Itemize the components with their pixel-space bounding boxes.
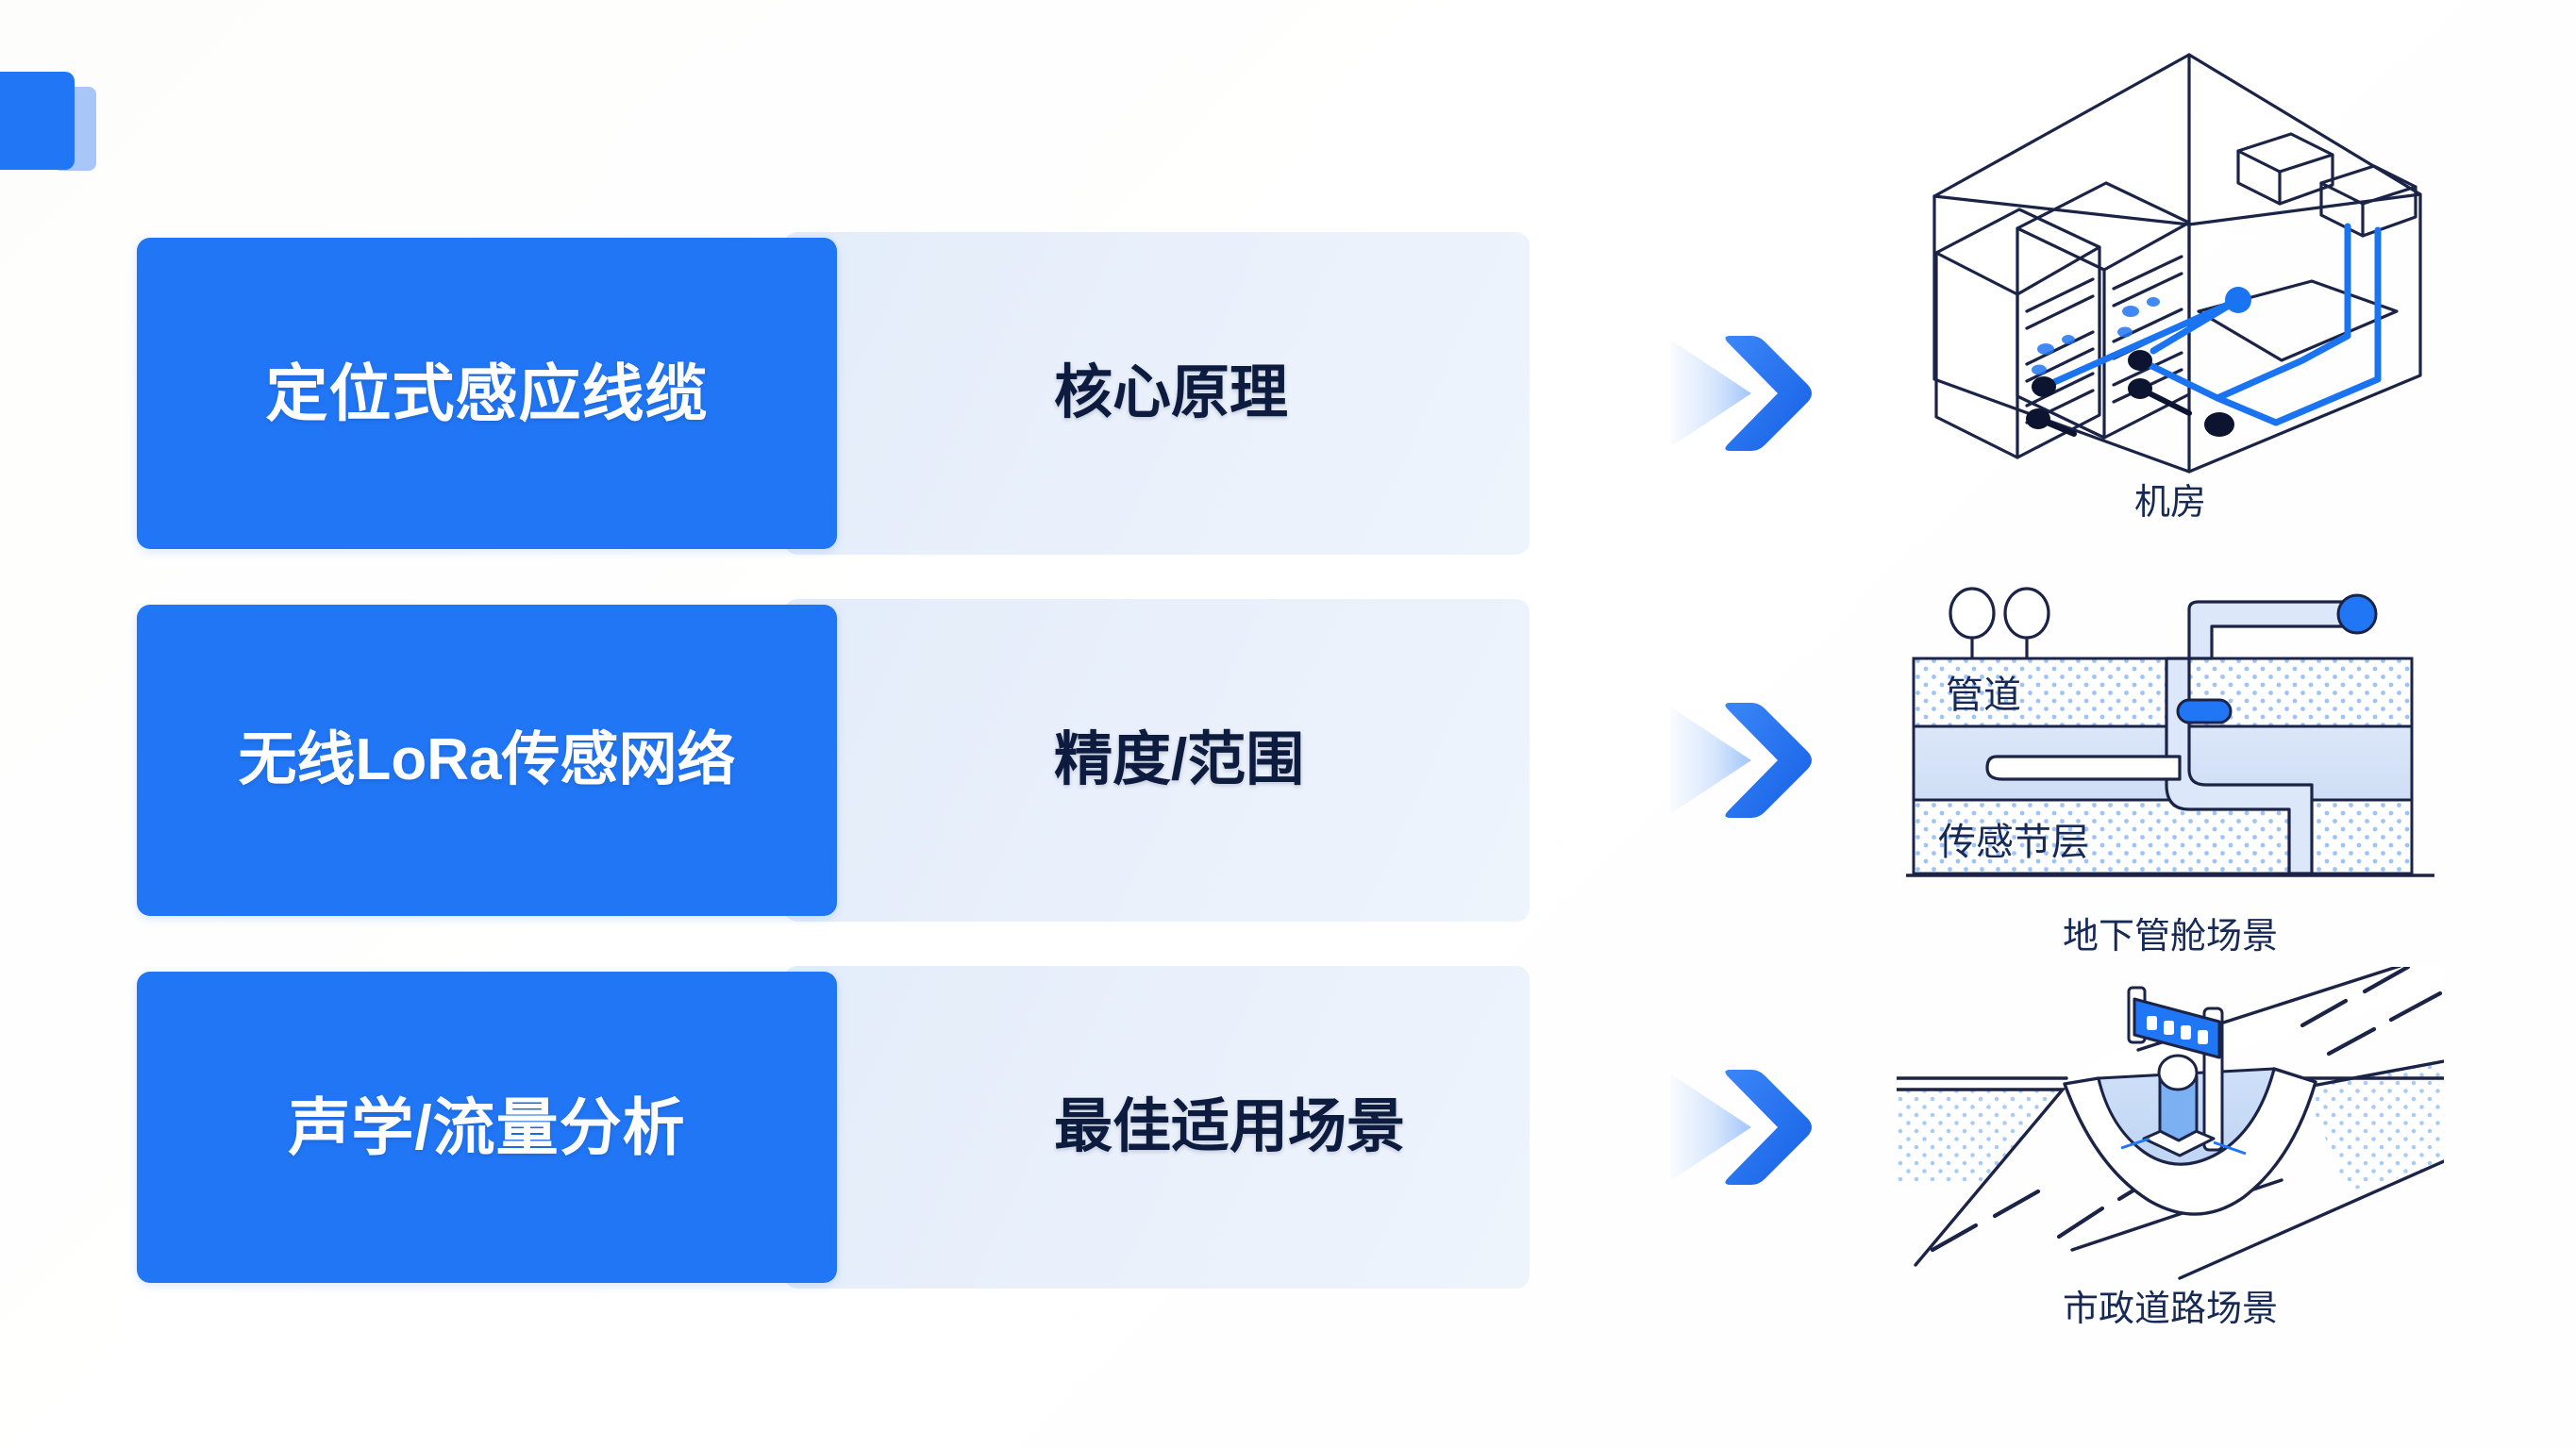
table-row: 精度/范围 无线LoRa传感网络	[137, 605, 1533, 916]
server-room-svg	[1906, 28, 2434, 481]
comparison-rows: 核心原理 定位式感应线缆 精度/范围 无线LoRa传感网络 最佳适用场景 声学/…	[137, 238, 1533, 1283]
aspect-panel-2[interactable]: 精度/范围	[784, 599, 1530, 922]
illustration-caption-3: 市政道路场景	[1878, 1291, 2463, 1327]
illustration-column: 机房	[1878, 0, 2463, 1377]
table-row: 最佳适用场景 声学/流量分析	[137, 972, 1533, 1283]
server-room-illustration: 机房	[1878, 28, 2463, 521]
method-card-3[interactable]: 声学/流量分析	[137, 972, 837, 1283]
method-label-2: 无线LoRa传感网络	[238, 731, 735, 790]
aspect-label-1: 核心原理	[1054, 364, 1288, 423]
pipe-layer-label: 管道	[1946, 674, 2021, 716]
sensor-layer-label: 传感节层	[1938, 822, 2089, 863]
method-card-1[interactable]: 定位式感应线缆	[137, 238, 837, 549]
aspect-label-2: 精度/范围	[1054, 731, 1304, 790]
illustration-caption-2: 地下管舱场景	[1878, 919, 2463, 955]
corner-decoration	[0, 72, 132, 171]
method-label-1: 定位式感应线缆	[266, 362, 709, 424]
illustration-caption-1: 机房	[1878, 485, 2463, 521]
double-chevron-right-icon-1	[1661, 323, 1859, 464]
aspect-label-3: 最佳适用场景	[1054, 1098, 1405, 1157]
aspect-panel-3[interactable]: 最佳适用场景	[784, 966, 1530, 1289]
double-chevron-right-icon-3	[1661, 1057, 1859, 1198]
decoration-square-solid	[0, 72, 75, 170]
underground-pipe-illustration: 管道 传感节层 地下管舱场景	[1878, 585, 2463, 955]
method-card-2[interactable]: 无线LoRa传感网络	[137, 605, 837, 916]
municipal-road-illustration: 市政道路场景	[1878, 967, 2463, 1327]
underground-pipe-svg: 管道 传感节层	[1906, 585, 2434, 915]
arrow-column	[1661, 238, 1878, 1302]
aspect-panel-1[interactable]: 核心原理	[784, 232, 1530, 555]
double-chevron-right-icon-2	[1661, 690, 1859, 831]
municipal-road-svg	[1897, 967, 2444, 1288]
table-row: 核心原理 定位式感应线缆	[137, 238, 1533, 549]
method-label-3: 声学/流量分析	[288, 1096, 685, 1158]
